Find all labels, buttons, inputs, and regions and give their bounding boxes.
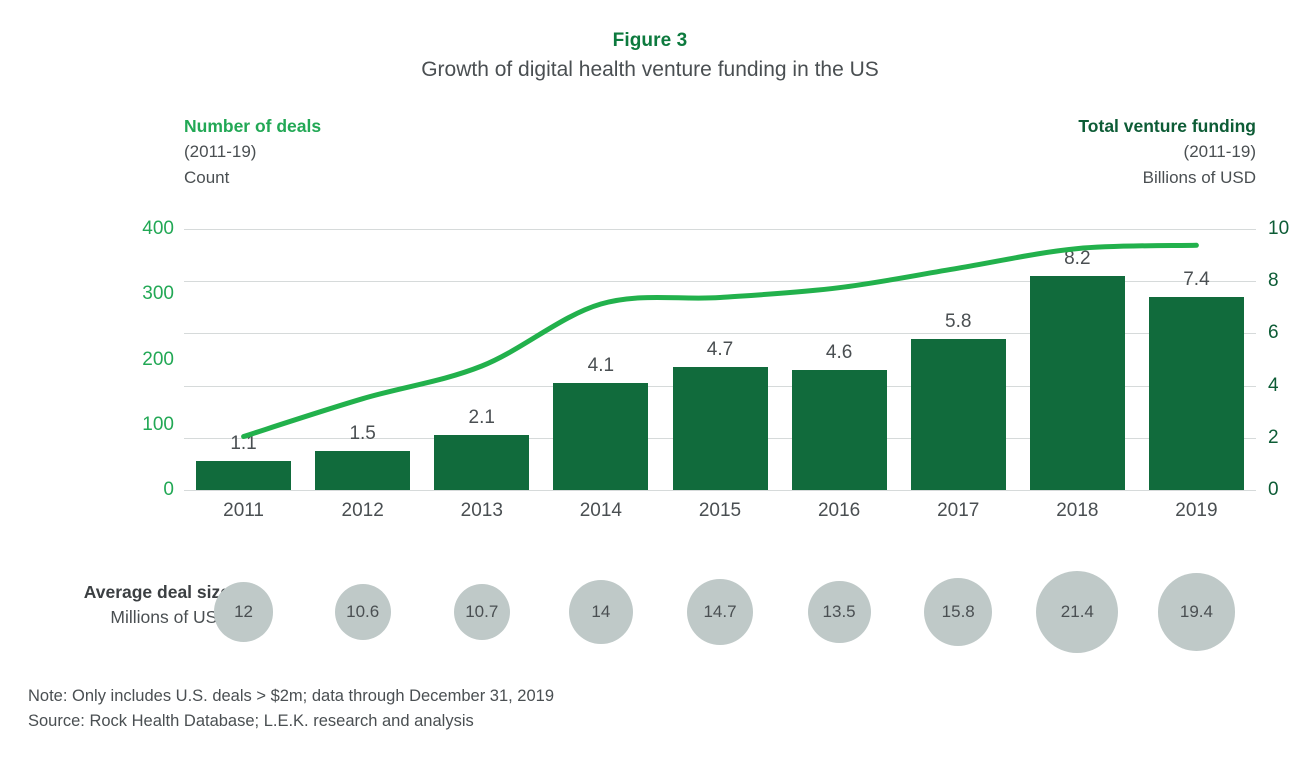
legend-right-period: (2011-19) <box>1078 139 1256 165</box>
x-axis-tick: 2016 <box>779 500 899 522</box>
bar <box>553 383 648 490</box>
bar-column: 1.5 <box>315 229 410 490</box>
left-axis-tick: 100 <box>142 415 174 434</box>
legend-left-heading: Number of deals <box>184 113 321 139</box>
right-axis-tick: 10 <box>1268 219 1289 238</box>
legend-left-unit: Count <box>184 165 321 191</box>
deal-size-bubbles: 1210.610.71414.713.515.821.419.4 <box>0 560 1300 660</box>
legend-left-axis: Number of deals (2011-19) Count <box>184 113 321 191</box>
left-axis-tick: 400 <box>142 219 174 238</box>
bar-value-label: 2.1 <box>434 408 529 427</box>
bar <box>911 339 1006 490</box>
bar-value-label: 4.6 <box>792 343 887 362</box>
legend-left-period: (2011-19) <box>184 139 321 165</box>
legend-right-axis: Total venture funding (2011-19) Billions… <box>1078 113 1256 191</box>
x-axis-tick: 2017 <box>898 500 1018 522</box>
deal-size-bubble: 21.4 <box>1036 571 1118 653</box>
plot-area: 0100200300400 0246810 1.11.52.14.14.74.6… <box>184 229 1256 490</box>
bar-value-label: 1.1 <box>196 434 291 453</box>
figure-title: Growth of digital health venture funding… <box>0 58 1300 82</box>
bar-value-label: 7.4 <box>1149 270 1244 289</box>
bar <box>315 451 410 490</box>
bar <box>792 370 887 490</box>
bar-column: 5.8 <box>911 229 1006 490</box>
footer-note: Note: Only includes U.S. deals > $2m; da… <box>28 684 554 709</box>
deal-size-bubble: 13.5 <box>808 581 871 644</box>
footer-notes: Note: Only includes U.S. deals > $2m; da… <box>28 684 554 734</box>
x-axis-baseline <box>184 490 1256 491</box>
bar-series: 1.11.52.14.14.74.65.88.27.4 <box>184 229 1256 490</box>
x-axis-tick: 2011 <box>184 500 304 522</box>
bar <box>1149 297 1244 490</box>
right-axis-tick: 2 <box>1268 428 1279 447</box>
bar-column: 7.4 <box>1149 229 1244 490</box>
right-axis-tick: 6 <box>1268 323 1279 342</box>
bar-column: 2.1 <box>434 229 529 490</box>
legend-right-unit: Billions of USD <box>1078 165 1256 191</box>
x-axis-tick: 2013 <box>422 500 542 522</box>
bar-value-label: 5.8 <box>911 312 1006 331</box>
left-axis-tick: 200 <box>142 350 174 369</box>
x-axis-tick: 2019 <box>1136 500 1256 522</box>
bar-value-label: 1.5 <box>315 424 410 443</box>
deal-size-bubble: 19.4 <box>1158 573 1235 650</box>
figure-label: Figure 3 <box>0 30 1300 52</box>
bar-value-label: 8.2 <box>1030 249 1125 268</box>
right-axis-tick: 8 <box>1268 271 1279 290</box>
right-axis-tick: 4 <box>1268 376 1279 395</box>
legend-right-heading: Total venture funding <box>1078 113 1256 139</box>
bar-column: 4.6 <box>792 229 887 490</box>
deal-size-bubble: 14 <box>569 580 633 644</box>
x-axis-tick: 2015 <box>660 500 780 522</box>
right-axis-tick: 0 <box>1268 480 1279 499</box>
x-axis-tick: 2014 <box>541 500 661 522</box>
bar <box>1030 276 1125 490</box>
bar-value-label: 4.7 <box>673 340 768 359</box>
bar-column: 1.1 <box>196 229 291 490</box>
deal-size-bubble: 12 <box>214 582 273 641</box>
bar-value-label: 4.1 <box>553 356 648 375</box>
x-axis-tick: 2018 <box>1017 500 1137 522</box>
bar-column: 4.1 <box>553 229 648 490</box>
deal-size-bubble: 10.7 <box>454 584 510 640</box>
figure-container: Figure 3 Growth of digital health ventur… <box>0 0 1300 772</box>
bar <box>673 367 768 490</box>
bar <box>196 461 291 490</box>
footer-source: Source: Rock Health Database; L.E.K. res… <box>28 709 554 734</box>
deal-size-bubble: 15.8 <box>924 578 993 647</box>
x-axis-tick: 2012 <box>303 500 423 522</box>
left-axis-tick: 0 <box>163 480 174 499</box>
deal-size-bubble: 10.6 <box>335 584 391 640</box>
bar-column: 8.2 <box>1030 229 1125 490</box>
left-axis-tick: 300 <box>142 284 174 303</box>
bar <box>434 435 529 490</box>
x-axis: 201120122013201420152016201720182019 <box>184 490 1256 532</box>
bar-column: 4.7 <box>673 229 768 490</box>
deal-size-bubble: 14.7 <box>687 579 753 645</box>
